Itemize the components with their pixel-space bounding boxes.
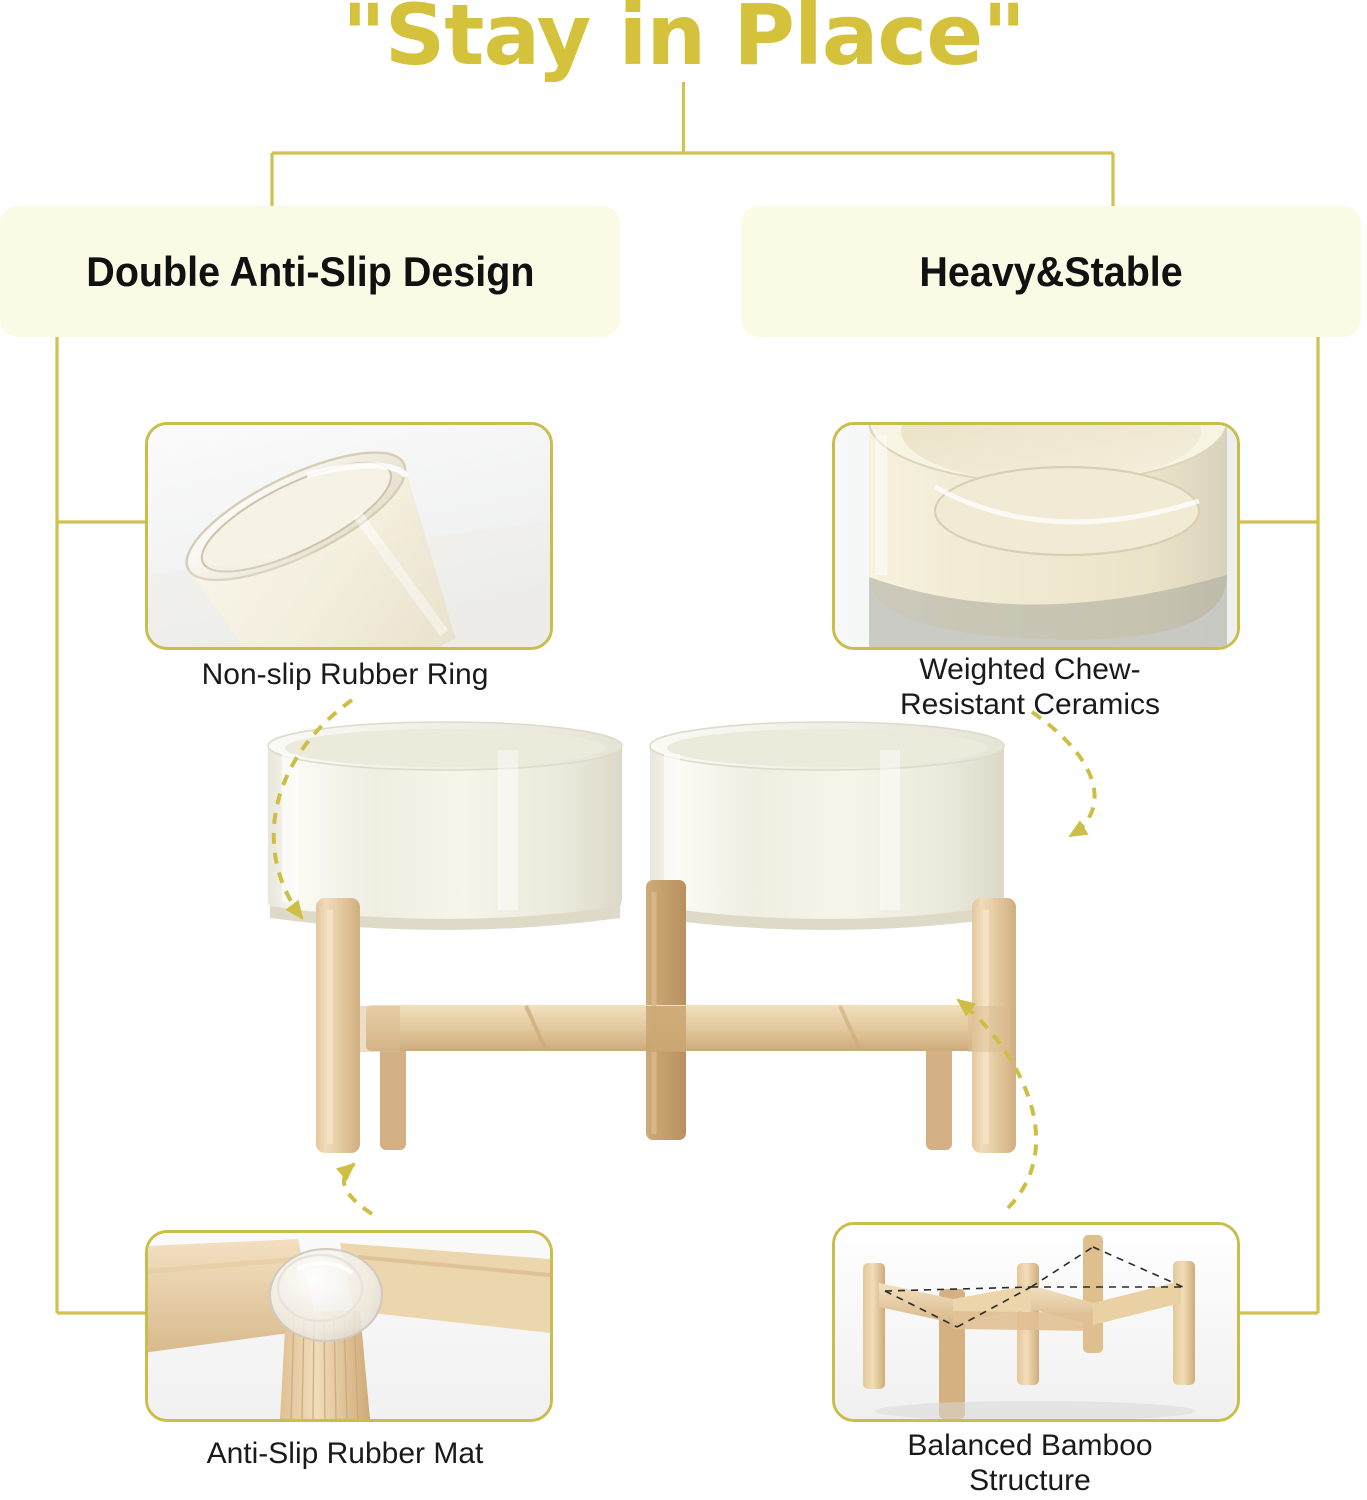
photo-card-anti-slip-rubber-mat [145,1230,553,1422]
caption-line: Resistant Ceramics [780,687,1280,722]
caption-line: Balanced Bamboo [780,1428,1280,1463]
photo-card-non-slip-rubber-ring [145,422,553,650]
caption-line: Structure [780,1463,1280,1498]
header-label-left: Double Anti-Slip Design [86,248,534,296]
infographic-canvas: "Stay in Place" Double Anti-Slip Design … [0,0,1367,1500]
photo-card-balanced-bamboo-structure [832,1222,1240,1422]
caption-line: Anti-Slip Rubber Mat [95,1436,595,1471]
header-label-right: Heavy&Stable [919,248,1182,296]
caption-line: Non-slip Rubber Ring [95,657,595,692]
caption-non-slip-rubber-ring: Non-slip Rubber Ring [95,657,595,692]
caption-weighted-chew-resistant-ceramics: Weighted Chew- Resistant Ceramics [780,652,1280,723]
caption-anti-slip-rubber-mat: Anti-Slip Rubber Mat [95,1436,595,1471]
photo-card-weighted-chew-resistant-ceramics [832,422,1240,650]
stand-front-leg-left [316,898,360,1153]
page-title: "Stay in Place" [0,0,1367,84]
photo-anti-slip-rubber-mat [148,1233,550,1419]
photo-balanced-bamboo-structure [835,1225,1237,1419]
product-photo-elevated-double-bowl-stand [250,720,1130,1190]
ceramic-bowl-right [650,722,1004,930]
ceramic-bowl-left [268,722,622,930]
caption-line: Weighted Chew- [780,652,1280,687]
photo-weighted-chew-resistant-ceramics [835,425,1237,647]
photo-non-slip-rubber-ring [148,425,550,647]
header-card-heavy-and-stable: Heavy&Stable [741,206,1361,337]
header-card-double-anti-slip-design: Double Anti-Slip Design [0,206,620,337]
caption-balanced-bamboo-structure: Balanced Bamboo Structure [780,1428,1280,1499]
